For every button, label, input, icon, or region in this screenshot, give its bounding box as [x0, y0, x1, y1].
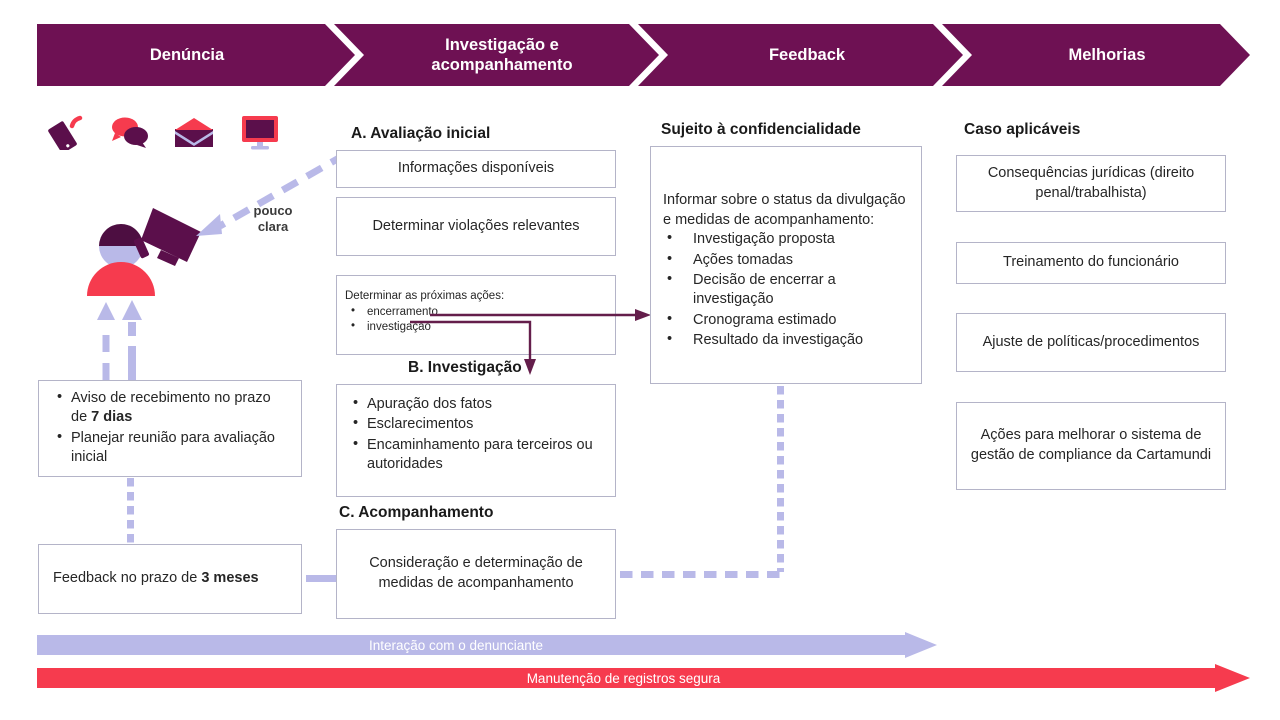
box-investigacao-itens[interactable]: Apuração dos fatos Esclarecimentos Encam… [336, 384, 616, 497]
investigacao-list: Apuração dos fatos Esclarecimentos Encam… [349, 395, 603, 476]
informar-status-item-4: Cronograma estimado [663, 311, 909, 330]
informar-status-item-3: Decisão de encerrar a investigação [663, 271, 909, 310]
interacao-arrow-label: Interação com o denunciante [37, 632, 937, 658]
receipt-item-1-bold: 7 dias [91, 409, 132, 425]
phase-label-2: Investigação eacompanhamento [352, 24, 652, 86]
mobile-phone-icon [44, 114, 88, 150]
box-melhoria-3[interactable]: Ajuste de políticas/procedimentos [956, 313, 1226, 372]
title-avaliacao-inicial: A. Avaliação inicial [351, 125, 490, 143]
box-informar-status[interactable]: Informar sobre o status da divulgação e … [650, 146, 922, 384]
registros-arrow-label: Manutenção de registros segura [37, 664, 1250, 692]
informar-status-list: Investigação proposta Ações tomadas Deci… [663, 230, 909, 351]
informar-status-item-2: Ações tomadas [663, 251, 909, 270]
box-acompanhamento[interactable]: Consideração e determinação de medidas d… [336, 529, 616, 619]
box-melhoria-2[interactable]: Treinamento do funcionário [956, 242, 1226, 284]
receipt-item-2-text: Planejar reunião para avaliação inicial [71, 430, 275, 465]
connector-feedback-to-acompanhamento [306, 575, 338, 582]
box-determinar-violacoes[interactable]: Determinar violações relevantes [336, 197, 616, 256]
phase-label-1: Denúncia [37, 24, 337, 86]
informar-status-item-5: Resultado da investigação [663, 331, 909, 350]
investigacao-item-3: Encaminhamento para terceiros ou autorid… [349, 436, 603, 475]
title-confidencialidade: Sujeito à confidencialidade [661, 121, 861, 139]
title-caso-aplicaveis: Caso aplicáveis [964, 121, 1080, 139]
left-feedback-bold: 3 meses [201, 570, 258, 586]
phase-header-band: Denúncia Investigação eacompanhamento Fe… [37, 24, 1250, 86]
connector-feedback-down [777, 386, 784, 572]
unclear-label-line1: pouco [238, 203, 308, 219]
receipt-item-1: Aviso de recebimento no prazo de 7 dias [53, 389, 287, 428]
left-feedback-text-before: Feedback no prazo de [53, 570, 201, 586]
box-aviso-recebimento[interactable]: Aviso de recebimento no prazo de 7 dias … [38, 380, 302, 477]
box-melhoria-4[interactable]: Ações para melhorar o sistema de gestão … [956, 402, 1226, 490]
unclear-label: pouco clara [238, 203, 308, 236]
left-feedback-text: Feedback no prazo de 3 meses [53, 569, 259, 589]
box-feedback-prazo[interactable]: Feedback no prazo de 3 meses [38, 544, 302, 614]
interacao-com-denunciante-arrow: Interação com o denunciante [37, 632, 937, 658]
informar-status-intro: Informar sobre o status da divulgação e … [663, 191, 909, 230]
unclear-label-line2: clara [238, 219, 308, 235]
investigacao-item-2: Esclarecimentos [349, 415, 603, 434]
connector-receipt-to-feedback [127, 478, 134, 544]
submission-arrows [97, 298, 149, 380]
phase-label-4: Melhorias [962, 24, 1252, 86]
title-acompanhamento: C. Acompanhamento [339, 504, 493, 522]
phase-label-3: Feedback [657, 24, 957, 86]
box-informacoes-disponiveis[interactable]: Informações disponíveis [336, 150, 616, 188]
title-investigacao: B. Investigação [408, 359, 522, 377]
informar-status-item-1: Investigação proposta [663, 230, 909, 249]
box-melhoria-1[interactable]: Consequências jurídicas (direito penal/t… [956, 155, 1226, 212]
informar-status-content: Informar sobre o status da divulgação e … [663, 191, 909, 352]
manutencao-registros-arrow: Manutenção de registros segura [37, 664, 1250, 692]
receipt-item-2: Planejar reunião para avaliação inicial [53, 429, 287, 468]
receipt-list: Aviso de recebimento no prazo de 7 dias … [53, 389, 287, 469]
connector-feedback-left-to-acompanhamento [620, 571, 780, 578]
investigacao-item-1: Apuração dos fatos [349, 395, 603, 414]
speech-bubbles-icon [108, 116, 154, 150]
